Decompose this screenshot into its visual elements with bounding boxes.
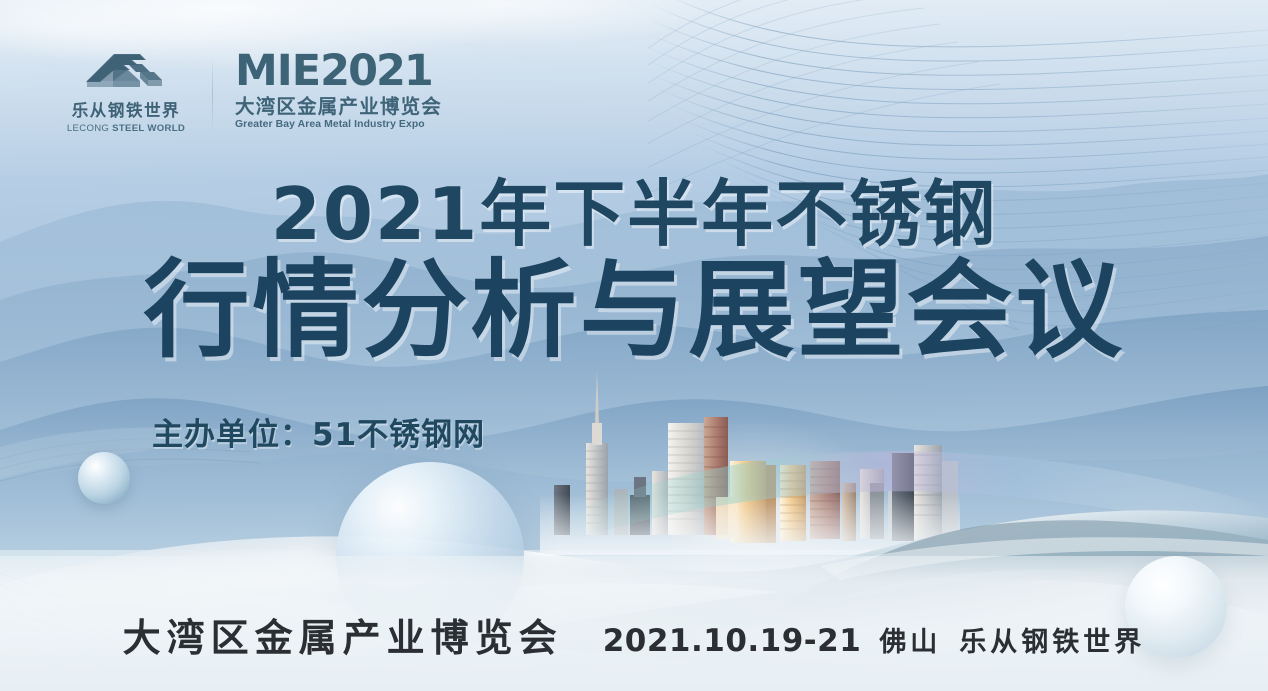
sun-glow [672, 415, 902, 595]
poster-canvas: 乐从钢铁世界 LECONG STEEL WORLD MIE2021 大湾区金属产… [0, 0, 1268, 691]
lecong-name-cn: 乐从钢铁世界 [72, 103, 181, 120]
mie-brand-line: MIE2021 [235, 52, 442, 92]
footer-city: 佛山 [879, 629, 941, 656]
mie-year: 2021 [320, 46, 432, 96]
organizer-line: 主办单位：51不锈钢网 [152, 420, 485, 451]
city-skyline-illustration [540, 365, 960, 555]
lecong-name-en-main: STEEL WORLD [112, 123, 185, 134]
mie-brand: MIE [235, 46, 320, 96]
logo-divider [212, 56, 213, 133]
title-line-1: 2021年下半年不锈钢 [0, 178, 1268, 250]
footer-date: 2021.10.19-21 [603, 626, 862, 657]
sphere-small-left [78, 452, 130, 504]
mie-logo[interactable]: MIE2021 大湾区金属产业博览会 Greater Bay Area Meta… [235, 52, 442, 130]
footer-venue: 乐从钢铁世界 [959, 629, 1145, 656]
title-line-2: 行情分析与展望会议 [0, 258, 1268, 364]
footer-expo-name: 大湾区金属产业博览会 [123, 619, 563, 657]
footer-info: 大湾区金属产业博览会 2021.10.19-21 佛山 乐从钢铁世界 [0, 619, 1268, 657]
lecong-logo[interactable]: 乐从钢铁世界 LECONG STEEL WORLD [62, 52, 190, 133]
mie-name-cn: 大湾区金属产业博览会 [235, 97, 442, 117]
lecong-name-en: LECONG STEEL WORLD [67, 124, 185, 134]
mie-name-en: Greater Bay Area Metal Industry Expo [235, 120, 442, 130]
lecong-name-en-prefix: LECONG [67, 123, 112, 134]
header-logos: 乐从钢铁世界 LECONG STEEL WORLD MIE2021 大湾区金属产… [62, 52, 442, 133]
stacked-steel-plates-icon [84, 52, 168, 96]
